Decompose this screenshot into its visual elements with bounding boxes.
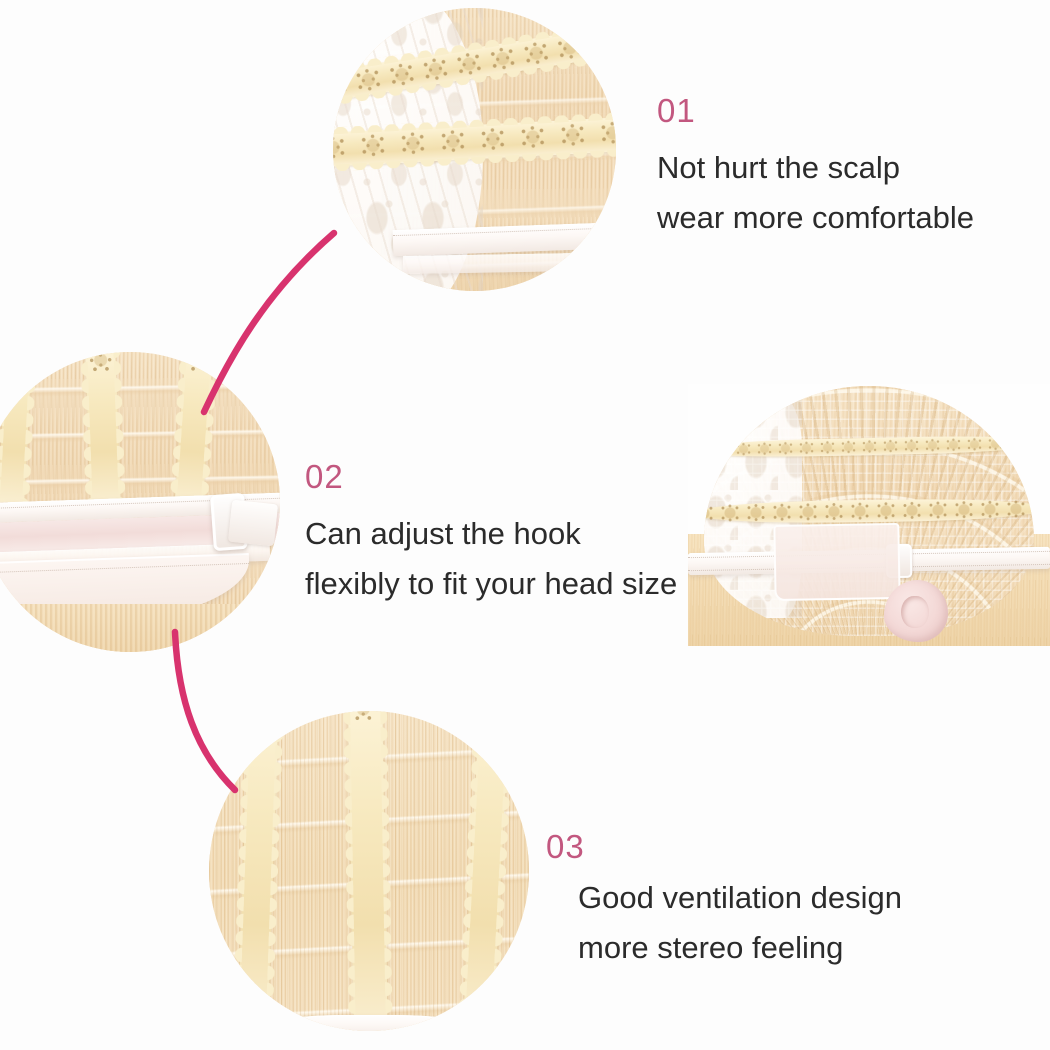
wig-cap-full-view-photo (688, 384, 1050, 646)
mannequin-ear (884, 580, 948, 642)
feature-caption-02: 02 Can adjust the hook flexibly to fit y… (305, 460, 677, 609)
feature-line-03-2: more stereo feeling (578, 923, 902, 973)
eyelet-ribbon-left (237, 711, 279, 1031)
product-feature-infographic: 01 Not hurt the scalp wear more comforta… (0, 0, 1050, 1050)
eyelet-ribbon-center (348, 711, 388, 1031)
feature-line-02-2: flexibly to fit your head size (305, 559, 677, 609)
feature-number-03: 03 (546, 830, 902, 863)
wig-cap-lace-front-closeup-photo (333, 8, 616, 291)
feature-caption-03: 03 Good ventilation design more stereo f… (546, 830, 902, 973)
feature-line-02-1: Can adjust the hook (305, 509, 677, 559)
feature-line-01-1: Not hurt the scalp (657, 143, 974, 193)
feature-line-03-1: Good ventilation design (578, 873, 902, 923)
feature-number-01: 01 (657, 94, 974, 127)
feature-caption-01: 01 Not hurt the scalp wear more comforta… (657, 94, 974, 243)
feature-line-01-2: wear more comfortable (657, 193, 974, 243)
feature-number-02: 02 (305, 460, 677, 493)
wig-cap-ventilation-grid-closeup-photo (209, 711, 529, 1031)
wig-cap-adjustable-hook-closeup-photo (0, 352, 280, 652)
